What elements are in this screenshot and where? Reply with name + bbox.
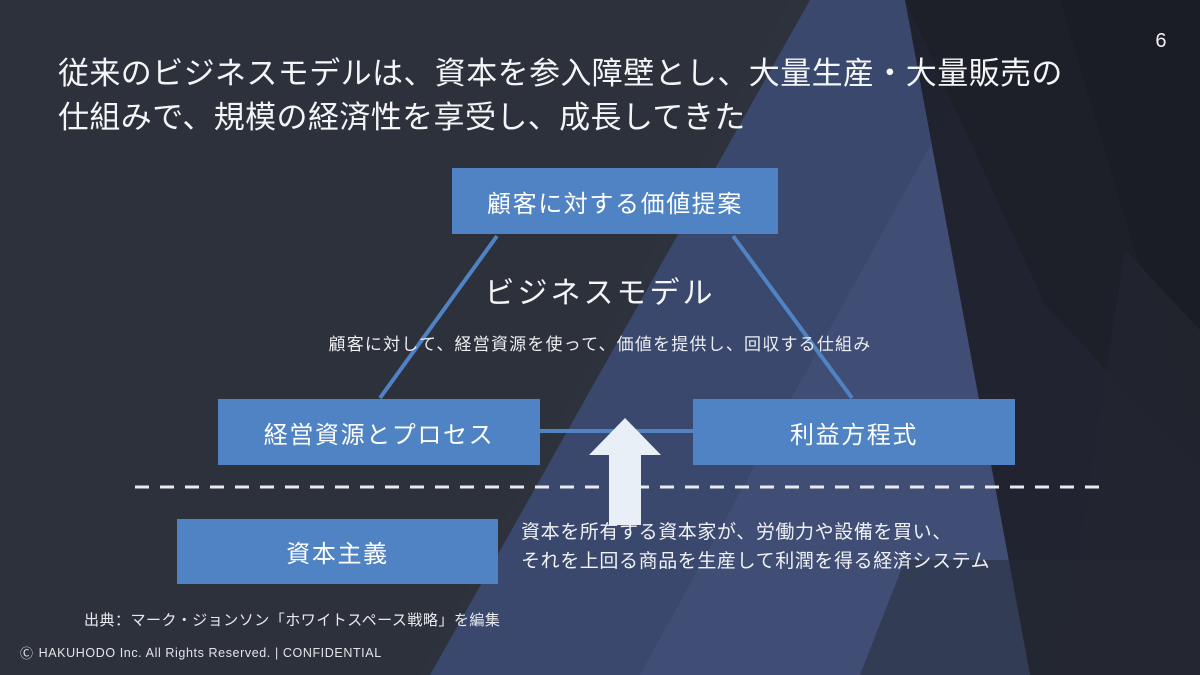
diagram-center-label: ビジネスモデル xyxy=(0,268,1200,312)
node-resources-process[interactable]: 経営資源とプロセス xyxy=(218,399,540,465)
connector-value-to-profit xyxy=(733,236,852,398)
node-value-proposition[interactable]: 顧客に対する価値提案 xyxy=(452,168,778,234)
footer-text: HAKUHODO Inc. All Rights Reserved. | CON… xyxy=(39,646,382,660)
slide: 6 従来のビジネスモデルは、資本を参入障壁とし、大量生産・大量販売の 仕組みで、… xyxy=(0,0,1200,675)
page-number: 6 xyxy=(1155,30,1167,53)
up-arrow-icon xyxy=(589,418,661,525)
diagram-center-description: 顧客に対して、経営資源を使って、価値を提供し、回収する仕組み xyxy=(0,330,1200,355)
slide-title: 従来のビジネスモデルは、資本を参入障壁とし、大量生産・大量販売の 仕組みで、規模… xyxy=(58,52,1068,140)
node-profit-formula[interactable]: 利益方程式 xyxy=(693,399,1015,465)
footer: Ⓒ HAKUHODO Inc. All Rights Reserved. | C… xyxy=(20,646,382,660)
copyright-icon: Ⓒ xyxy=(20,647,34,660)
source-note: 出典：マーク・ジョンソン「ホワイトスペース戦略」を編集 xyxy=(84,609,500,630)
connector-value-to-resources xyxy=(380,236,497,398)
capitalism-annotation: 資本を所有する資本家が、労働力や設備を買い、 それを上回る商品を生産して利潤を得… xyxy=(521,519,990,577)
node-capitalism[interactable]: 資本主義 xyxy=(177,519,498,584)
